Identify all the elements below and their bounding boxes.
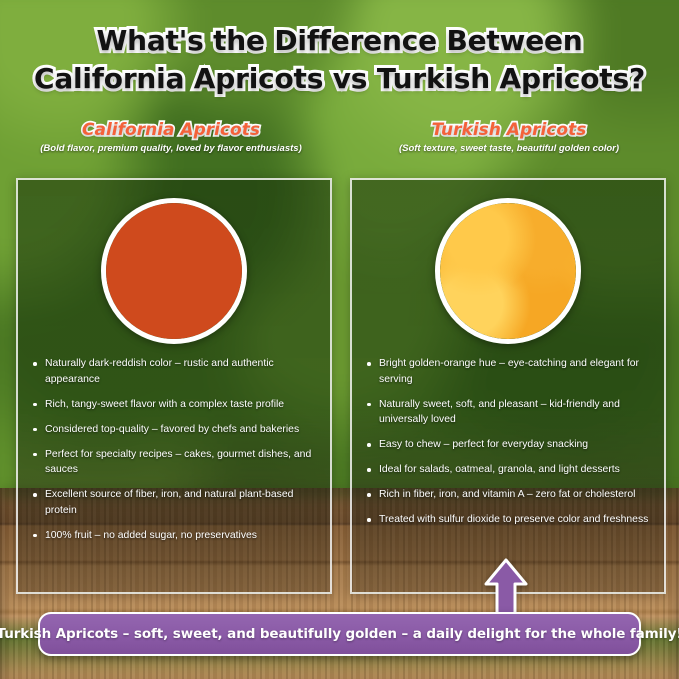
list-item: 100% fruit – no added sugar, no preserva… [32,528,320,544]
bullet-list-california: Naturally dark-reddish color – rustic an… [32,356,320,553]
column-subtitle-turkish: (Soft texture, sweet taste, beautiful go… [350,143,668,155]
list-item: Rich, tangy-sweet flavor with a complex … [32,397,320,413]
list-item: Ideal for salads, oatmeal, granola, and … [366,462,654,478]
list-item: Bright golden-orange hue – eye-catching … [366,356,654,387]
arrow-up-icon [484,558,528,618]
list-item: Treated with sulfur dioxide to preserve … [366,512,654,528]
bottom-banner: Turkish Apricots – soft, sweet, and beau… [38,612,641,656]
panel-turkish: Bright golden-orange hue – eye-catching … [350,178,666,594]
column-subtitle-california: (Bold flavor, premium quality, loved by … [12,143,330,155]
photo-california-apricots [101,198,247,344]
banner-text: Turkish Apricots – soft, sweet, and beau… [0,626,679,642]
column-title-california: California Apricots [12,120,330,140]
list-item: Considered top-quality – favored by chef… [32,422,320,438]
column-heading-turkish: Turkish Apricots (Soft texture, sweet ta… [350,120,668,155]
list-item: Rich in fiber, iron, and vitamin A – zer… [366,487,654,503]
column-heading-california: California Apricots (Bold flavor, premiu… [12,120,330,155]
bullet-list-turkish: Bright golden-orange hue – eye-catching … [366,356,654,537]
list-item: Naturally dark-reddish color – rustic an… [32,356,320,387]
list-item: Excellent source of fiber, iron, and nat… [32,487,320,518]
list-item: Naturally sweet, soft, and pleasant – ki… [366,397,654,428]
list-item: Easy to chew – perfect for everyday snac… [366,437,654,453]
photo-turkish-apricots [435,198,581,344]
list-item: Perfect for specialty recipes – cakes, g… [32,447,320,478]
column-title-turkish: Turkish Apricots [350,120,668,140]
panel-california: Naturally dark-reddish color – rustic an… [16,178,332,594]
